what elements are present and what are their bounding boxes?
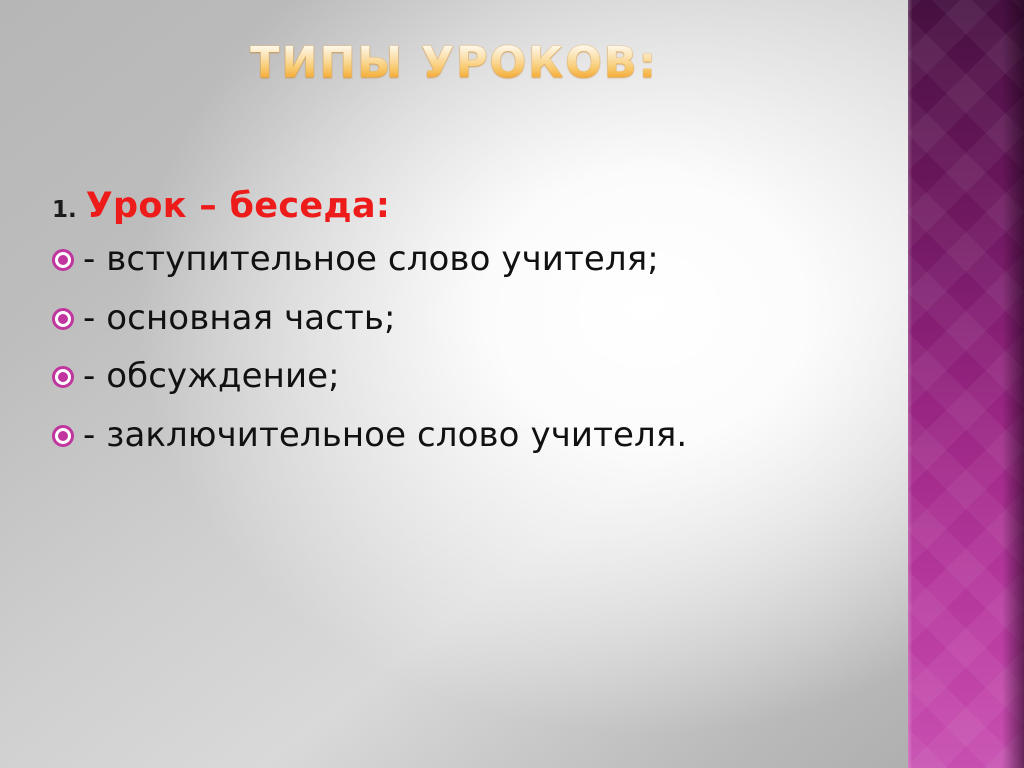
list-item: - обсуждение; xyxy=(52,355,752,398)
page-title: Типы уроков: xyxy=(250,40,658,86)
list-item-label: - вступительное слово учителя; xyxy=(83,239,659,279)
band-right-shadow xyxy=(1002,0,1024,768)
list-item: - основная часть; xyxy=(52,297,752,340)
bullet-list: - вступительное слово учителя; - основна… xyxy=(52,238,752,456)
list-item: - вступительное слово учителя; xyxy=(52,238,752,281)
lesson-number: 1. xyxy=(52,197,77,223)
list-item-label: - обсуждение; xyxy=(83,356,340,396)
slide: Типы уроков: 1. Урок – беседа: - вступит… xyxy=(0,0,1024,768)
lesson-title: Урок – беседа: xyxy=(86,186,390,226)
ring-bullet-icon xyxy=(52,425,74,447)
ring-bullet-icon xyxy=(52,308,74,330)
list-item-label: - основная часть; xyxy=(83,298,396,338)
content-body: 1. Урок – беседа: - вступительное слово … xyxy=(52,186,752,456)
lesson-heading: 1. Урок – беседа: xyxy=(52,186,752,226)
diamond-texture-overlay xyxy=(908,0,1024,768)
title-container: Типы уроков: xyxy=(0,40,908,86)
band-left-highlight xyxy=(908,0,912,768)
list-item: - заключительное слово учителя. xyxy=(52,414,752,457)
list-item-label: - заключительное слово учителя. xyxy=(83,415,687,455)
decorative-side-band xyxy=(908,0,1024,768)
ring-bullet-icon xyxy=(52,249,74,271)
ring-bullet-icon xyxy=(52,366,74,388)
